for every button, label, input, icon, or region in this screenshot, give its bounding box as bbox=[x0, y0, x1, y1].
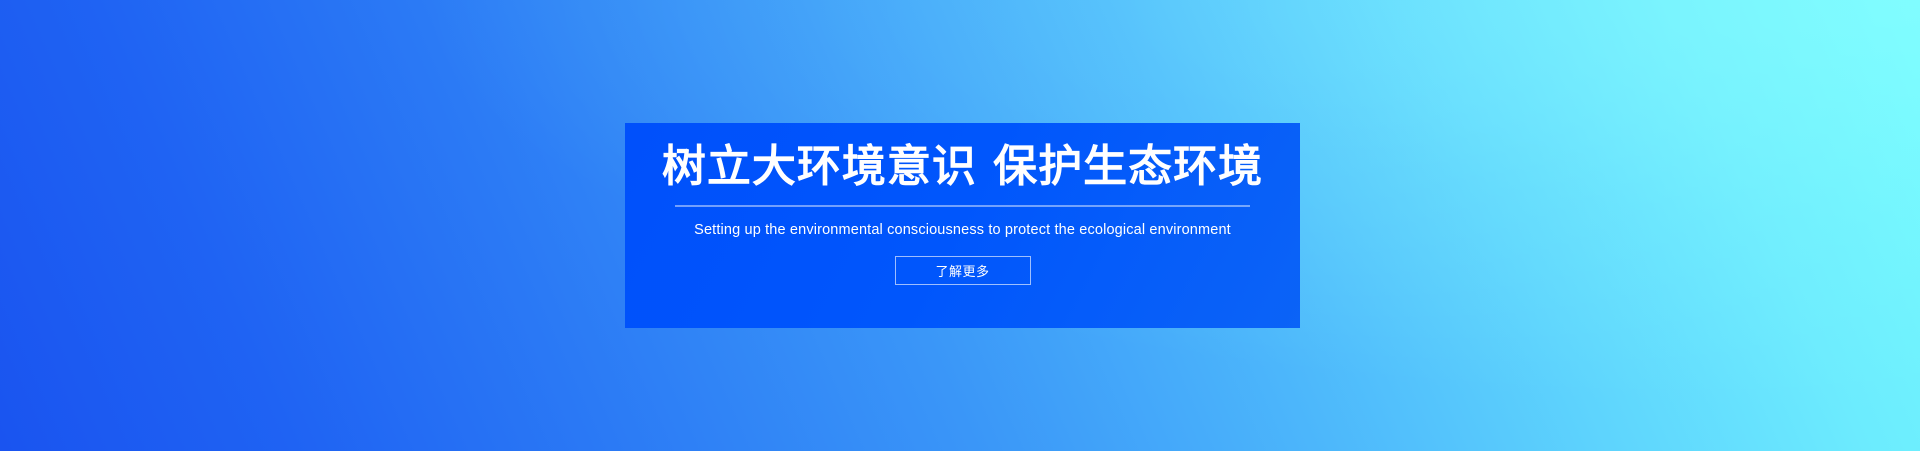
hero-banner: 树立大环境意识 保护生态环境 Setting up the environmen… bbox=[0, 0, 1920, 451]
page-title: 树立大环境意识 保护生态环境 bbox=[662, 123, 1263, 191]
learn-more-button[interactable]: 了解更多 bbox=[895, 256, 1031, 285]
page-subtitle: Setting up the environmental consciousne… bbox=[694, 207, 1231, 239]
hero-content-panel: 树立大环境意识 保护生态环境 Setting up the environmen… bbox=[625, 123, 1300, 328]
